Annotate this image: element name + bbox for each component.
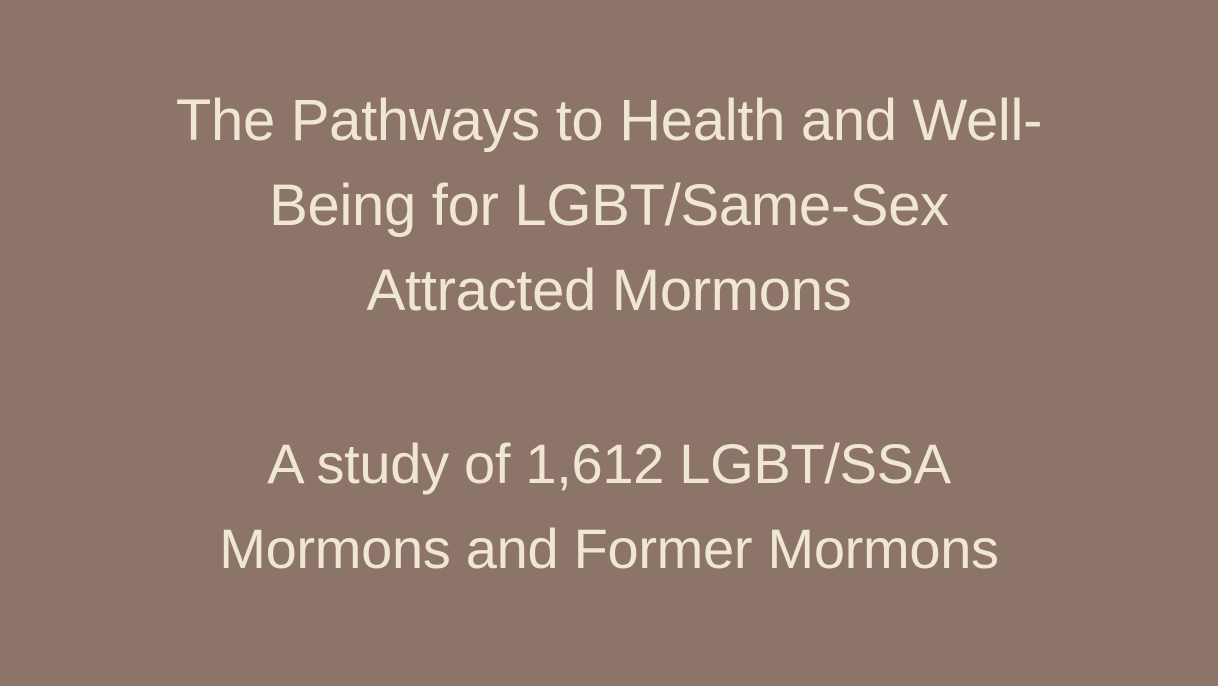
slide-title: The Pathways to Health and Well- Being f… xyxy=(109,78,1109,333)
title-subtitle-spacer xyxy=(0,333,1218,421)
title-line-2: Being for LGBT/Same-Sex xyxy=(109,163,1109,248)
subtitle-line-2: Mormons and Former Mormons xyxy=(109,506,1109,591)
title-slide: The Pathways to Health and Well- Being f… xyxy=(0,0,1218,686)
subtitle-line-1: A study of 1,612 LGBT/SSA xyxy=(109,421,1109,506)
title-line-1: The Pathways to Health and Well- xyxy=(109,78,1109,163)
slide-subtitle: A study of 1,612 LGBT/SSA Mormons and Fo… xyxy=(109,421,1109,591)
title-line-3: Attracted Mormons xyxy=(109,248,1109,333)
